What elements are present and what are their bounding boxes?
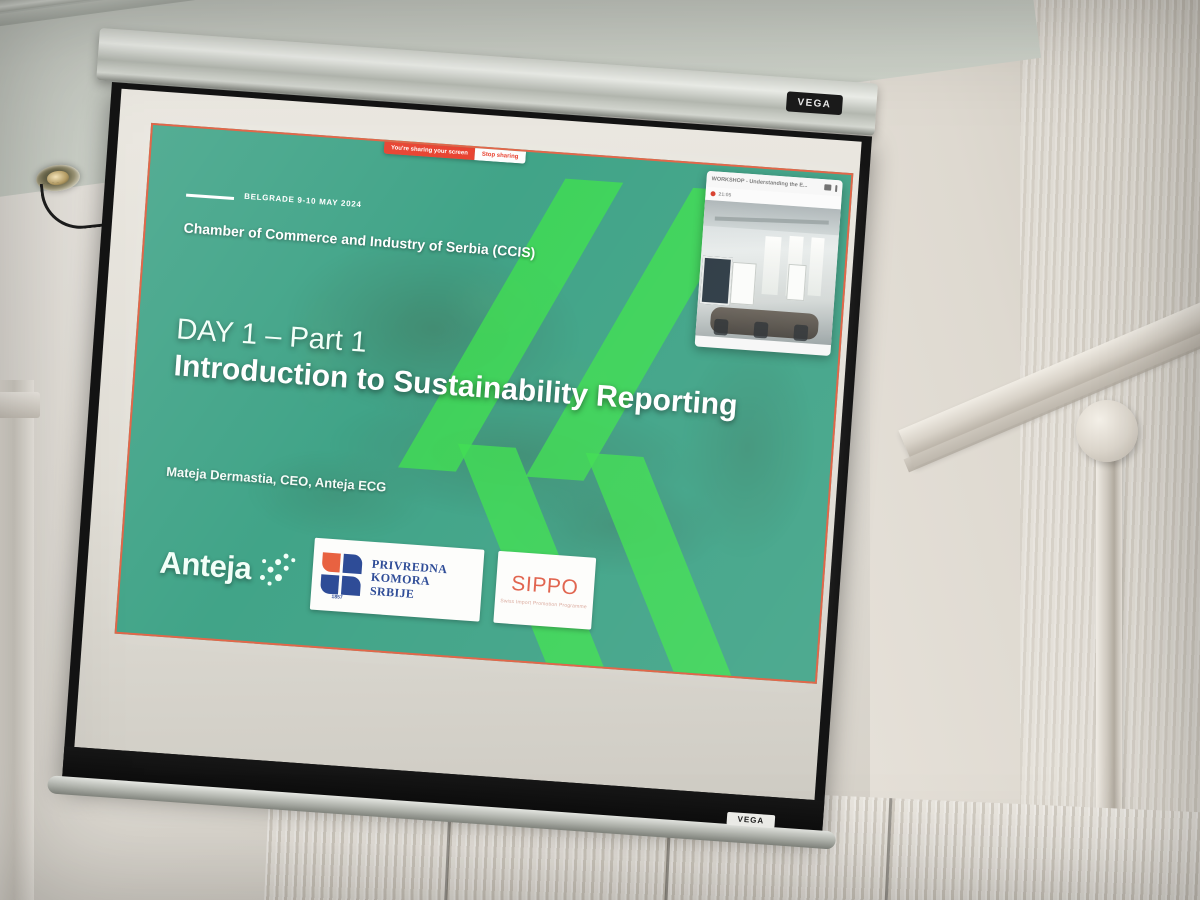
anteja-logo-wordmark: Anteja bbox=[158, 545, 252, 587]
conference-room-photo: VEGA BELGRADE 9-10 MAY 2024 Chamber of C… bbox=[0, 0, 1200, 900]
privredna-komora-srbije-logo: 1857 PRIVREDNA KOMORA SRBIJE bbox=[310, 538, 485, 622]
feed-whiteboard bbox=[700, 256, 733, 306]
left-pilaster-capital bbox=[0, 392, 40, 418]
feed-flipchart bbox=[786, 264, 807, 301]
anteja-logo: Anteja bbox=[158, 542, 299, 594]
sippo-logo: SIPPO Swiss Import Promotion Programme bbox=[493, 551, 596, 630]
feed-chair bbox=[753, 322, 768, 339]
zoom-meeting-title: WORKSHOP - Understanding the E... bbox=[711, 176, 807, 189]
pks-emblem-icon: 1857 bbox=[319, 550, 364, 601]
zoom-video-panel[interactable]: WORKSHOP - Understanding the E... 21:05 bbox=[695, 171, 843, 356]
recording-timer: 21:05 bbox=[718, 191, 731, 198]
plaster-medallion bbox=[1076, 400, 1138, 462]
pks-wordmark: PRIVREDNA KOMORA SRBIJE bbox=[370, 558, 448, 604]
pks-established-year: 1857 bbox=[331, 594, 343, 601]
left-pilaster bbox=[0, 380, 34, 900]
vega-brand-label: VEGA bbox=[737, 815, 764, 826]
feed-chair bbox=[793, 324, 808, 341]
vega-brand-badge-top: VEGA bbox=[786, 91, 843, 115]
more-options-icon[interactable] bbox=[835, 184, 837, 191]
projected-slide: BELGRADE 9-10 MAY 2024 Chamber of Commer… bbox=[115, 123, 854, 684]
screen-projection-surface: BELGRADE 9-10 MAY 2024 Chamber of Commer… bbox=[74, 89, 861, 800]
grid-view-icon[interactable] bbox=[824, 184, 831, 190]
sippo-wordmark: SIPPO bbox=[510, 571, 579, 600]
projector-screen: BELGRADE 9-10 MAY 2024 Chamber of Commer… bbox=[62, 82, 872, 835]
feed-window bbox=[807, 237, 824, 296]
anteja-logo-dots-icon bbox=[257, 549, 300, 594]
feed-flipchart bbox=[730, 262, 757, 306]
recording-indicator-icon bbox=[710, 191, 715, 196]
feed-window bbox=[761, 236, 781, 295]
zoom-video-feed bbox=[695, 200, 840, 345]
feed-chair bbox=[713, 319, 728, 336]
vega-brand-label: VEGA bbox=[797, 97, 832, 110]
zoom-video-panel-controls[interactable] bbox=[824, 184, 837, 192]
